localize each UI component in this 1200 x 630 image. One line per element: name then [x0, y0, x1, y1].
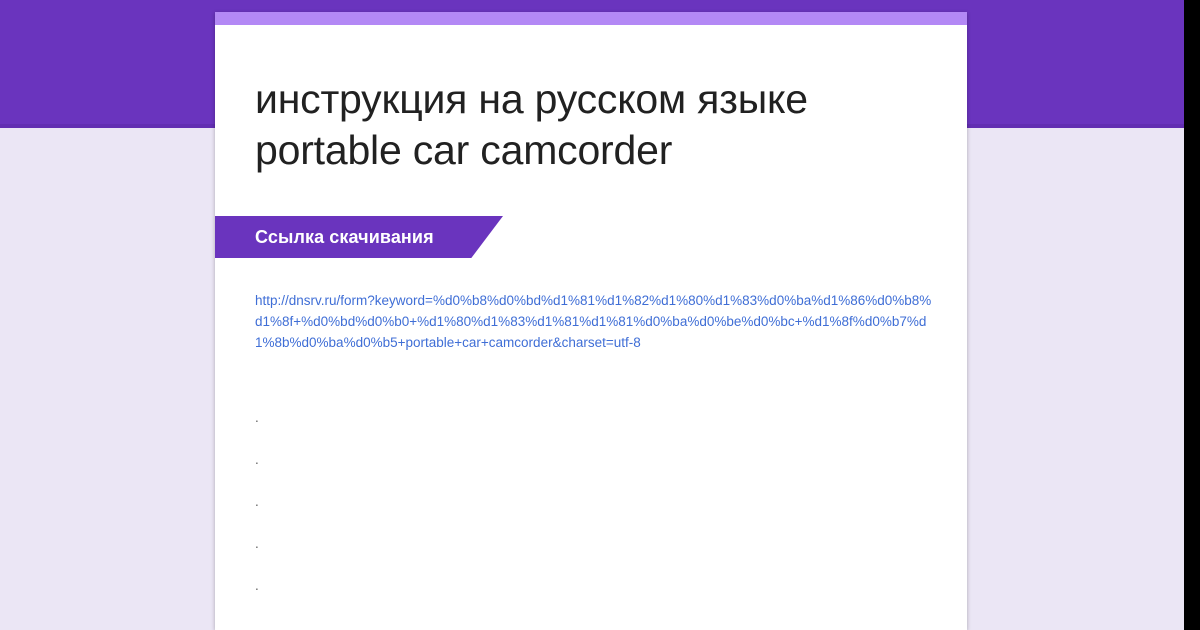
list-item: . — [255, 536, 935, 578]
page-canvas: инструкция на русском языке portable car… — [0, 0, 1184, 630]
list-item: . — [255, 452, 935, 494]
download-link-block: http://dnsrv.ru/form?keyword=%d0%b8%d0%b… — [255, 290, 935, 353]
list-item: . — [255, 494, 935, 536]
content-card: инструкция на русском языке portable car… — [215, 12, 967, 630]
dot-placeholder-list: . . . . . . — [255, 410, 935, 630]
download-link-banner-label: Ссылка скачивания — [255, 227, 434, 248]
list-item: . — [255, 410, 935, 452]
download-link-banner: Ссылка скачивания — [215, 216, 503, 258]
download-link[interactable]: http://dnsrv.ru/form?keyword=%d0%b8%d0%b… — [255, 290, 935, 353]
list-item: . — [255, 620, 935, 630]
page-title: инструкция на русском языке portable car… — [255, 74, 935, 176]
card-accent-strip — [215, 12, 967, 25]
right-black-bar — [1184, 0, 1200, 630]
list-item: . — [255, 578, 935, 620]
screenshot-root: инструкция на русском языке portable car… — [0, 0, 1200, 630]
